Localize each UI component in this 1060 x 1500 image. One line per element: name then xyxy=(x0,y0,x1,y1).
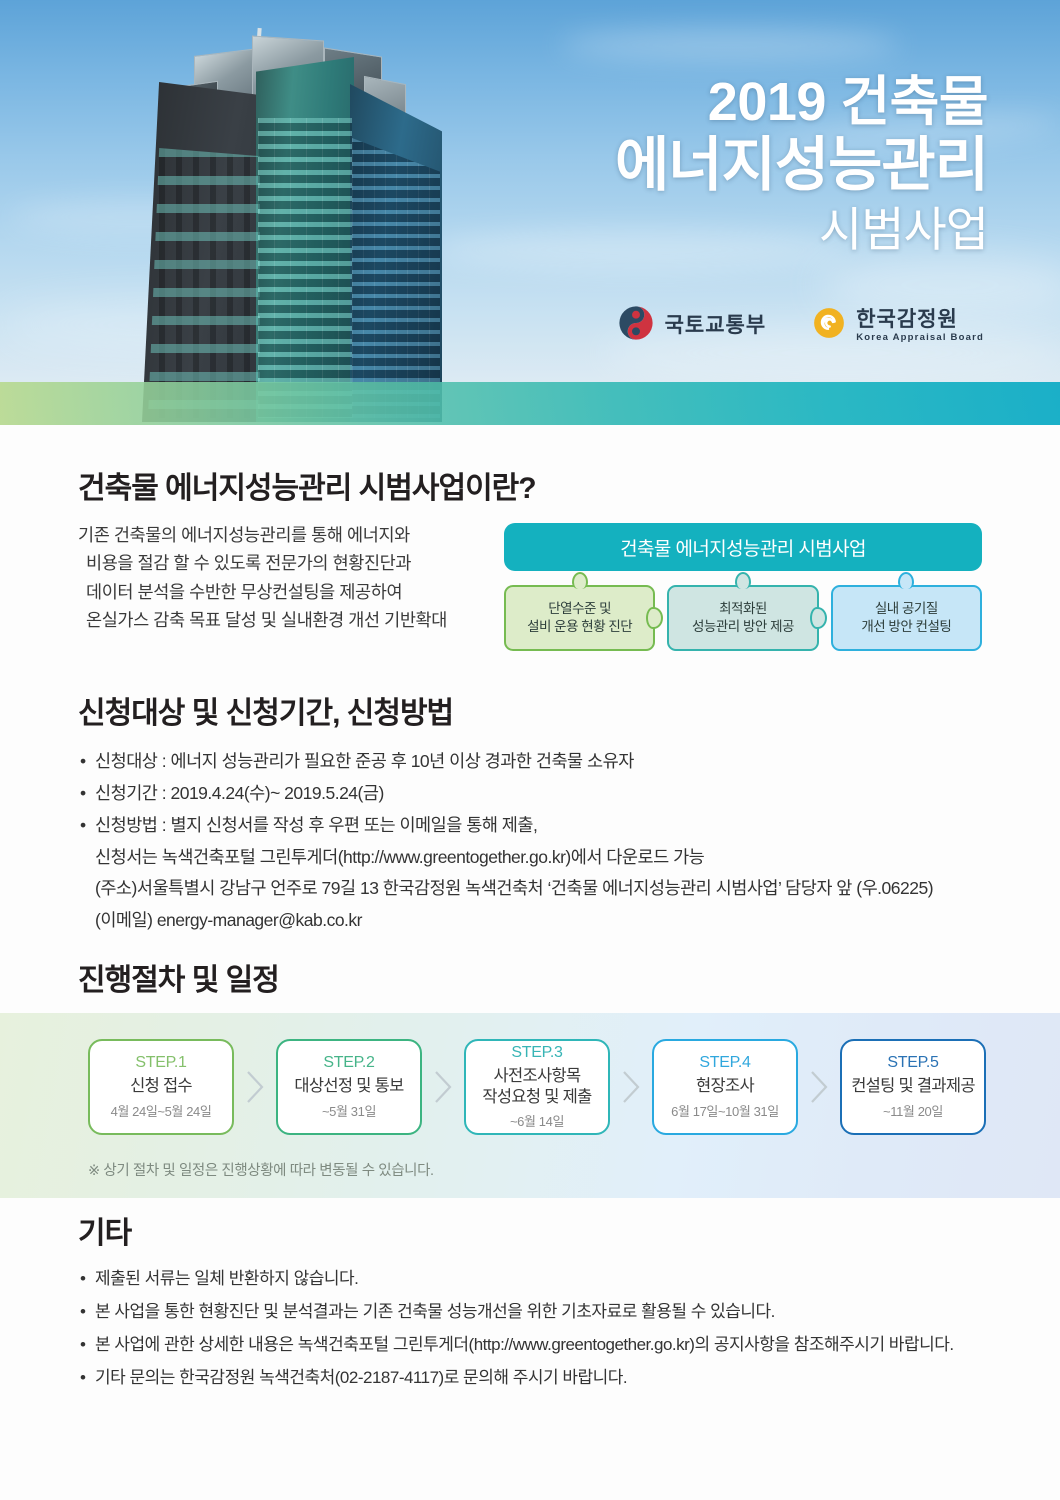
step-3-name-line2: 작성요청 및 제출 xyxy=(482,1087,591,1108)
steps-disclaimer-note: ※ 상기 절차 및 일정은 진행상황에 따라 변동될 수 있습니다. xyxy=(88,1159,434,1180)
step-4-name: 현장조사 xyxy=(696,1076,754,1097)
list-item: 신청방법 : 별지 신청서를 작성 후 우편 또는 이메일을 통해 제출, xyxy=(78,810,982,842)
puzzle-piece-row: 단열수준 및 설비 운용 현황 진단 최적화된 성능관리 방안 제공 실내 공기… xyxy=(504,585,982,651)
list-item: 본 사업을 통한 현황진단 및 분석결과는 기존 건축물 성능개선을 위한 기초… xyxy=(78,1295,982,1328)
puzzle-piece-1-line1: 단열수준 및 xyxy=(548,600,611,618)
apply-sub-line: (주소)서울특별시 강남구 언주로 79길 13 한국감정원 녹색건축처 ‘건축… xyxy=(78,873,982,905)
taegeuk-swirl-icon xyxy=(617,304,655,347)
section-other-title: 기타 xyxy=(78,1208,982,1252)
apply-sub-line: 신청서는 녹색건축포털 그린투게더(http://www.greentogeth… xyxy=(78,842,982,874)
steps-band: STEP.1 신청 접수 4월 24일~5월 24일 STEP.2 대상선정 및… xyxy=(0,1013,1060,1198)
kab-logo-ko: 한국감정원 xyxy=(856,309,984,330)
puzzle-knob-icon xyxy=(646,607,663,629)
step-box-3: STEP.3 사전조사항목 작성요청 및 제출 ~6월 14일 xyxy=(464,1039,610,1135)
step-3-date: ~6월 14일 xyxy=(510,1111,564,1130)
hero-title-line-1-rest: 건축물 xyxy=(840,72,988,132)
section-process: 진행절차 및 일정 STEP.1 신청 접수 4월 24일~5월 24일 STE… xyxy=(0,955,1060,1198)
puzzle-piece-3: 실내 공기질 개선 방안 컨설팅 xyxy=(831,585,982,651)
steps-row: STEP.1 신청 접수 4월 24일~5월 24일 STEP.2 대상선정 및… xyxy=(88,1039,988,1135)
building-photo xyxy=(128,22,458,422)
step-2-date: ~5월 31일 xyxy=(322,1101,376,1120)
about-paragraph-line: 온실가스 감축 목표 달성 및 실내환경 개선 기반확대 xyxy=(78,606,478,634)
puzzle-knob-icon xyxy=(810,607,827,629)
hero-title-line-2: 에너지성능관리 xyxy=(428,135,988,197)
step-4-date: 6월 17일~10월 31일 xyxy=(671,1101,779,1120)
section-process-head: 진행절차 및 일정 xyxy=(0,955,1060,999)
step-1-label: STEP.1 xyxy=(135,1054,186,1072)
logo-group: 국토교통부 한국감정원 Korea Appraisal Board xyxy=(617,304,984,347)
list-item: 신청대상 : 에너지 성능관리가 필요한 준공 후 10년 이상 경과한 건축물… xyxy=(78,746,982,778)
section-about-body: 기존 건축물의 에너지성능관리를 통해 에너지와 비용을 절감 할 수 있도록 … xyxy=(78,521,982,653)
puzzle-piece-2-line2: 성능관리 방안 제공 xyxy=(692,618,794,636)
step-box-5: STEP.5 컨설팅 및 결과제공 ~11월 20일 xyxy=(840,1039,986,1135)
list-item: 제출된 서류는 일체 반환하지 않습니다. xyxy=(78,1262,982,1295)
puzzle-piece-2: 최적화된 성능관리 방안 제공 xyxy=(667,585,818,651)
hero-title-line-3: 시범사업 xyxy=(428,205,988,254)
step-box-4: STEP.4 현장조사 6월 17일~10월 31일 xyxy=(652,1039,798,1135)
puzzle-piece-3-line1: 실내 공기질 xyxy=(875,600,938,618)
hero-banner: 2019 건축물 에너지성능관리 시범사업 국토교통부 xyxy=(0,0,1060,425)
puzzle-piece-3-line2: 개선 방안 컨설팅 xyxy=(861,618,951,636)
chevron-right-icon xyxy=(798,1039,840,1135)
hero-title-line-1: 2019 건축물 xyxy=(428,74,988,131)
puzzle-diagram-header: 건축물 에너지성능관리 시범사업 xyxy=(504,523,982,571)
kab-logo-en: Korea Appraisal Board xyxy=(856,333,984,343)
molit-logo-text: 국토교통부 xyxy=(665,315,767,336)
step-2-name: 대상선정 및 통보 xyxy=(294,1076,403,1097)
step-3-label: STEP.3 xyxy=(511,1044,562,1062)
step-5-name: 컨설팅 및 결과제공 xyxy=(851,1076,975,1097)
puzzle-tab-icon xyxy=(898,572,914,589)
window-grid-left xyxy=(148,148,260,418)
list-item: 신청기간 : 2019.4.24(수)~ 2019.5.24(금) xyxy=(78,778,982,810)
step-3-name-line1: 사전조사항목 xyxy=(494,1066,581,1087)
step-1-date: 4월 24일~5월 24일 xyxy=(111,1101,212,1120)
hero-year: 2019 xyxy=(708,72,826,132)
chevron-right-icon xyxy=(422,1039,464,1135)
spiral-swirl-icon xyxy=(812,306,846,345)
about-paragraph-line: 데이터 분석을 수반한 무상컨설팅을 제공하여 xyxy=(78,578,478,606)
poster-root: 2019 건축물 에너지성능관리 시범사업 국토교통부 xyxy=(0,0,1060,1500)
apply-sub-line: (이메일) energy-manager@kab.co.kr xyxy=(78,905,982,937)
list-item: 본 사업에 관한 상세한 내용은 녹색건축포털 그린투게더(http://www… xyxy=(78,1328,982,1361)
step-5-date: ~11월 20일 xyxy=(883,1101,943,1120)
section-apply: 신청대상 및 신청기간, 신청방법 신청대상 : 에너지 성능관리가 필요한 준… xyxy=(0,688,1060,937)
section-process-title: 진행절차 및 일정 xyxy=(78,955,982,999)
hero-title: 2019 건축물 에너지성능관리 시범사업 xyxy=(428,74,988,254)
list-item: 기타 문의는 한국감정원 녹색건축처(02-2187-4117)로 문의해 주시… xyxy=(78,1361,982,1394)
puzzle-tab-icon xyxy=(572,572,588,589)
step-1-name: 신청 접수 xyxy=(130,1076,192,1097)
puzzle-diagram: 건축물 에너지성능관리 시범사업 단열수준 및 설비 운용 현황 진단 최적화된… xyxy=(496,523,982,653)
kab-logo-text: 한국감정원 Korea Appraisal Board xyxy=(856,309,984,343)
molit-logo-ko: 국토교통부 xyxy=(665,315,767,336)
kab-logo: 한국감정원 Korea Appraisal Board xyxy=(812,306,984,345)
other-bullet-list: 제출된 서류는 일체 반환하지 않습니다. 본 사업을 통한 현황진단 및 분석… xyxy=(78,1262,982,1395)
section-other: 기타 제출된 서류는 일체 반환하지 않습니다. 본 사업을 통한 현황진단 및… xyxy=(0,1208,1060,1395)
step-box-2: STEP.2 대상선정 및 통보 ~5월 31일 xyxy=(276,1039,422,1135)
cloud-decoration xyxy=(560,30,900,60)
chevron-right-icon xyxy=(610,1039,652,1135)
window-grid-right xyxy=(352,138,440,418)
section-about: 건축물 에너지성능관리 시범사업이란? 기존 건축물의 에너지성능관리를 통해 … xyxy=(0,463,1060,653)
window-grid-middle xyxy=(258,118,352,418)
puzzle-piece-1-line2: 설비 운용 현황 진단 xyxy=(527,618,632,636)
puzzle-piece-1: 단열수준 및 설비 운용 현황 진단 xyxy=(504,585,655,651)
section-apply-title: 신청대상 및 신청기간, 신청방법 xyxy=(78,688,982,732)
step-box-1: STEP.1 신청 접수 4월 24일~5월 24일 xyxy=(88,1039,234,1135)
section-about-title: 건축물 에너지성능관리 시범사업이란? xyxy=(78,463,982,507)
chevron-right-icon xyxy=(234,1039,276,1135)
about-paragraph: 기존 건축물의 에너지성능관리를 통해 에너지와 비용을 절감 할 수 있도록 … xyxy=(78,521,478,634)
puzzle-tab-icon xyxy=(735,572,751,589)
step-5-label: STEP.5 xyxy=(887,1054,938,1072)
step-2-label: STEP.2 xyxy=(323,1054,374,1072)
about-paragraph-line: 기존 건축물의 에너지성능관리를 통해 에너지와 xyxy=(78,521,478,549)
molit-logo: 국토교통부 xyxy=(617,304,767,347)
apply-bullet-list: 신청대상 : 에너지 성능관리가 필요한 준공 후 10년 이상 경과한 건축물… xyxy=(78,746,982,842)
step-4-label: STEP.4 xyxy=(699,1054,750,1072)
gradient-ribbon xyxy=(0,382,1060,425)
puzzle-piece-2-line1: 최적화된 xyxy=(719,600,767,618)
about-paragraph-line: 비용을 절감 할 수 있도록 전문가의 현황진단과 xyxy=(78,549,478,577)
